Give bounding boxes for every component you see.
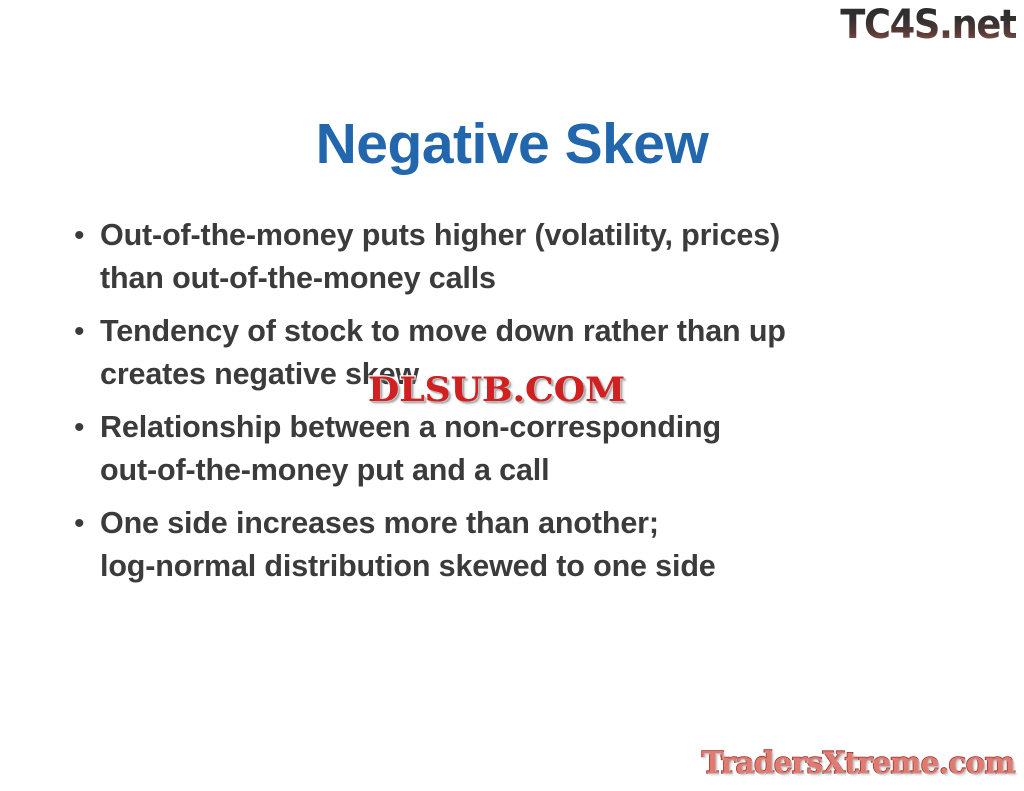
- list-item-line: log-normal distribution skewed to one si…: [100, 545, 966, 588]
- tradersxtreme-footer-logo: TradersXtreme.com: [702, 746, 1015, 782]
- list-item-text: One side increases more than another; lo…: [100, 502, 966, 588]
- list-item-text: Out-of-the-money puts higher (volatility…: [100, 214, 966, 300]
- list-item-line: One side increases more than another;: [100, 502, 966, 545]
- bullet-point-icon: •: [66, 310, 100, 353]
- list-item-line: Tendency of stock to move down rather th…: [100, 310, 966, 353]
- tc4s-brand-logo: TC4S.net: [840, 2, 1016, 48]
- list-item: • Out-of-the-money puts higher (volatili…: [66, 214, 966, 300]
- list-item-line: out-of-the-money put and a call: [100, 449, 966, 492]
- list-item-line: than out-of-the-money calls: [100, 257, 966, 300]
- bullet-point-icon: •: [66, 502, 100, 545]
- bullet-point-icon: •: [66, 406, 100, 449]
- list-item: • Relationship between a non-correspondi…: [66, 406, 966, 492]
- presentation-slide: TC4S.net Negative Skew • Out-of-the-mone…: [0, 0, 1024, 791]
- bullet-point-icon: •: [66, 214, 100, 257]
- list-item-line: Relationship between a non-corresponding: [100, 406, 966, 449]
- dlsub-watermark: DLSUB.COM: [368, 370, 625, 410]
- list-item-text: Relationship between a non-corresponding…: [100, 406, 966, 492]
- page-title: Negative Skew: [0, 112, 1024, 176]
- list-item: • One side increases more than another; …: [66, 502, 966, 588]
- list-item-line: Out-of-the-money puts higher (volatility…: [100, 214, 966, 257]
